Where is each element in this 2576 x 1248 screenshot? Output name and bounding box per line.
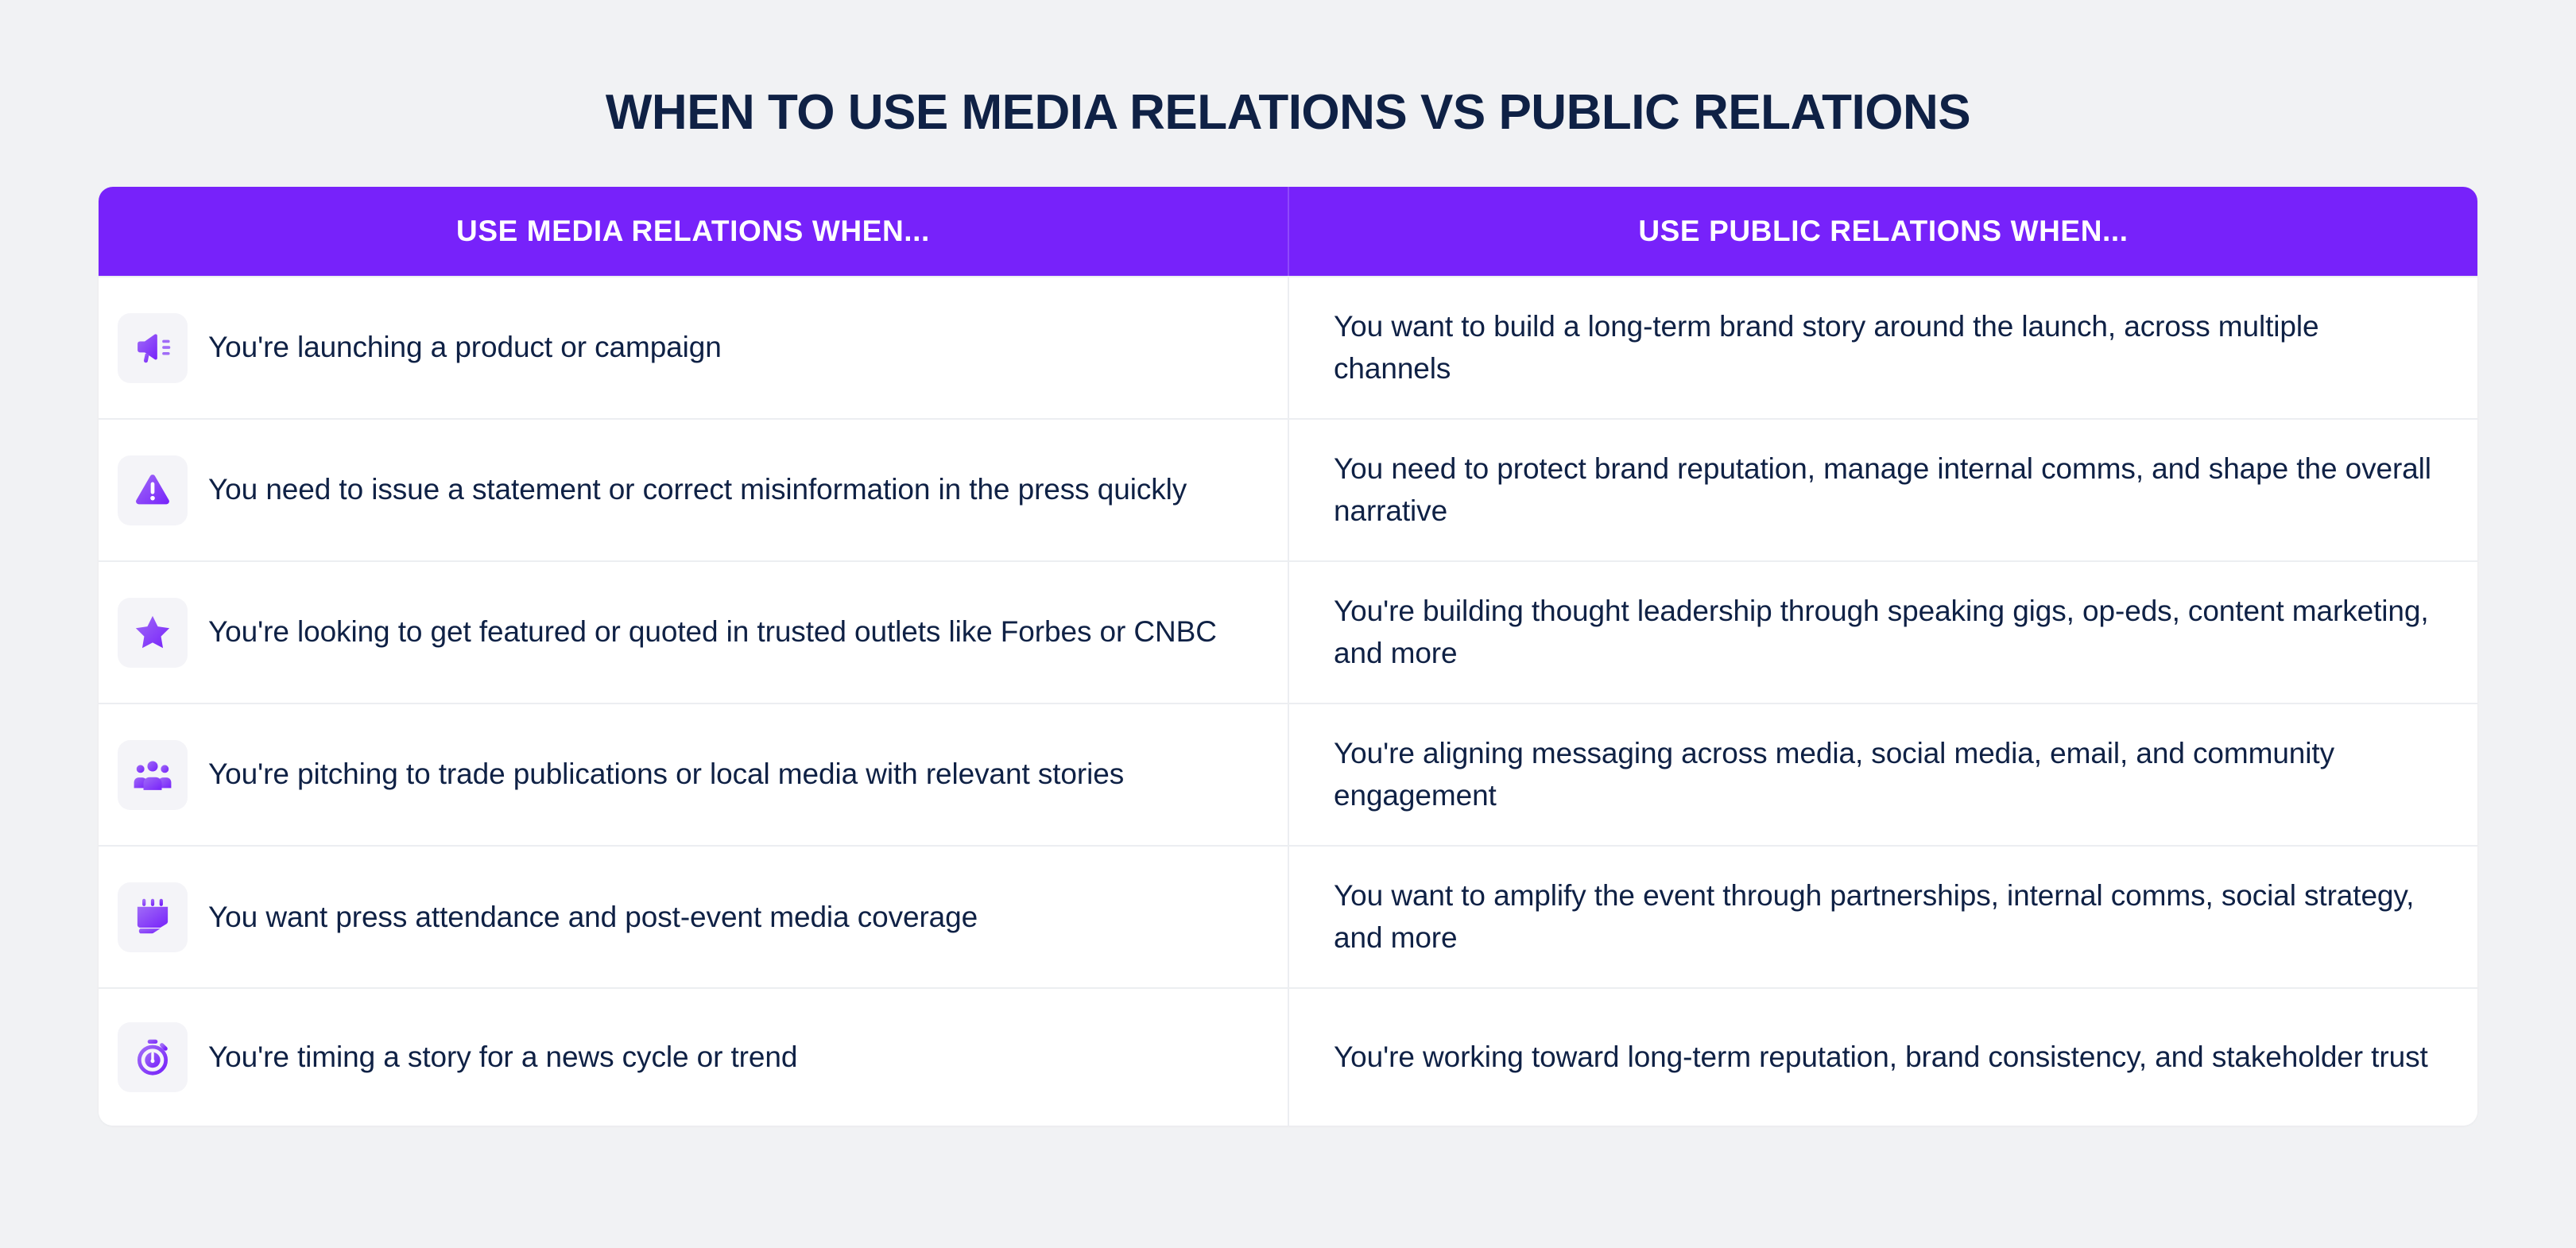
megaphone-icon: [118, 313, 188, 383]
cell-text: You want to build a long-term brand stor…: [1334, 306, 2442, 390]
table-row: You're timing a story for a news cycle o…: [99, 987, 2477, 1126]
cell-public-relations: You need to protect brand reputation, ma…: [1288, 420, 2477, 560]
table-header-row: USE MEDIA RELATIONS WHEN... USE PUBLIC R…: [99, 187, 2477, 276]
cell-media-relations: You need to issue a statement or correct…: [99, 420, 1288, 560]
comparison-infographic: WHEN TO USE MEDIA RELATIONS VS PUBLIC RE…: [0, 0, 2576, 1248]
cell-text: You're aligning messaging across media, …: [1334, 733, 2442, 816]
cell-public-relations: You're building thought leadership throu…: [1288, 562, 2477, 703]
cell-text: You're timing a story for a news cycle o…: [208, 1037, 805, 1079]
cell-text: You want press attendance and post-event…: [208, 897, 986, 939]
cell-text: You want to amplify the event through pa…: [1334, 875, 2442, 959]
cell-media-relations: You're launching a product or campaign: [99, 277, 1288, 418]
table-row: You need to issue a statement or correct…: [99, 418, 2477, 560]
cell-public-relations: You're working toward long-term reputati…: [1288, 989, 2477, 1126]
warning-triangle-icon: [118, 455, 188, 525]
calendar-icon: [118, 882, 188, 952]
table-row: You're launching a product or campaign Y…: [99, 276, 2477, 418]
star-icon: [118, 598, 188, 668]
cell-text: You're building thought leadership throu…: [1334, 591, 2442, 674]
cell-text: You're looking to get featured or quoted…: [208, 611, 1225, 653]
comparison-table: USE MEDIA RELATIONS WHEN... USE PUBLIC R…: [99, 187, 2477, 1126]
table-row: You're looking to get featured or quoted…: [99, 560, 2477, 703]
cell-media-relations: You're timing a story for a news cycle o…: [99, 989, 1288, 1126]
column-header-public-relations: USE PUBLIC RELATIONS WHEN...: [1288, 187, 2477, 276]
people-group-icon: [118, 740, 188, 810]
table-row: You're pitching to trade publications or…: [99, 703, 2477, 845]
column-header-media-relations: USE MEDIA RELATIONS WHEN...: [99, 187, 1288, 276]
cell-text: You're pitching to trade publications or…: [208, 754, 1132, 796]
cell-public-relations: You're aligning messaging across media, …: [1288, 704, 2477, 845]
cell-media-relations: You're looking to get featured or quoted…: [99, 562, 1288, 703]
cell-text: You're working toward long-term reputati…: [1334, 1037, 2428, 1079]
table-row: You want press attendance and post-event…: [99, 845, 2477, 987]
cell-public-relations: You want to amplify the event through pa…: [1288, 847, 2477, 987]
cell-text: You need to protect brand reputation, ma…: [1334, 448, 2442, 532]
cell-media-relations: You're pitching to trade publications or…: [99, 704, 1288, 845]
cell-text: You're launching a product or campaign: [208, 327, 730, 369]
cell-text: You need to issue a statement or correct…: [208, 469, 1195, 511]
cell-public-relations: You want to build a long-term brand stor…: [1288, 277, 2477, 418]
page-title: WHEN TO USE MEDIA RELATIONS VS PUBLIC RE…: [0, 86, 2576, 140]
cell-media-relations: You want press attendance and post-event…: [99, 847, 1288, 987]
stopwatch-icon: [118, 1022, 188, 1092]
